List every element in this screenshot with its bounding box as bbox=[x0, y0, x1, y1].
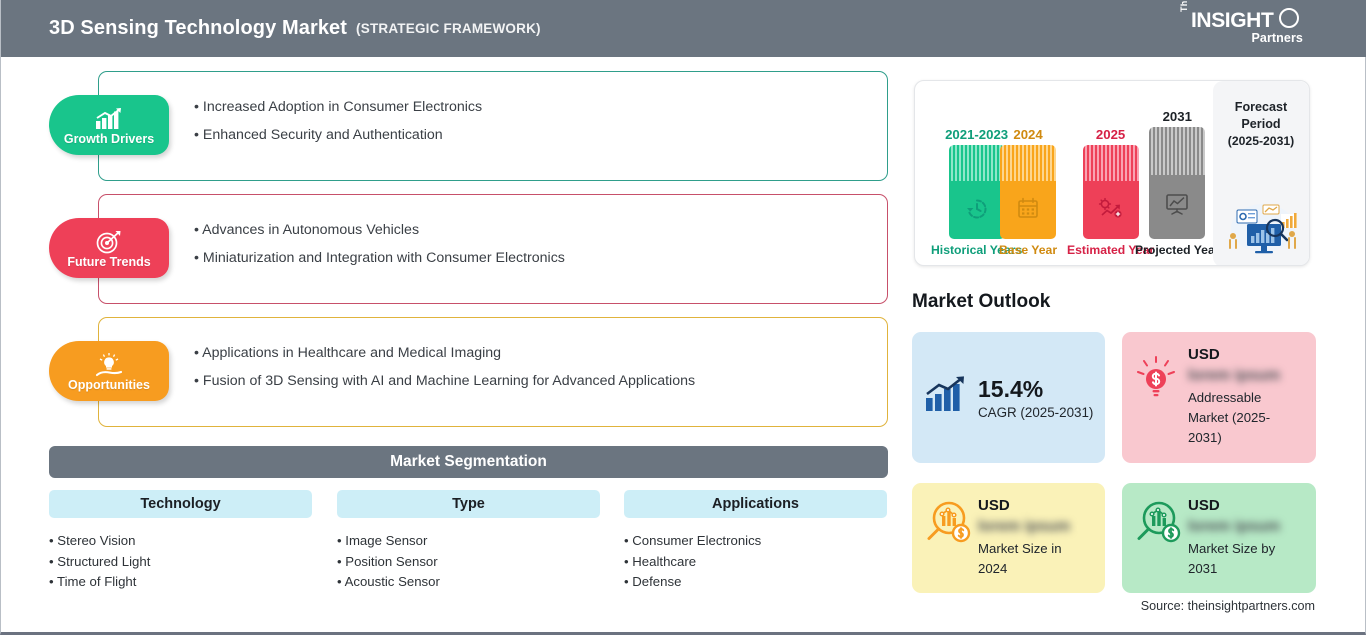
dashboard-analysis-illustration bbox=[1219, 196, 1303, 259]
bullets-growth-drivers: Increased Adoption in Consumer Electroni… bbox=[194, 93, 482, 149]
card-value-blurred: lorem ipsum bbox=[1188, 367, 1300, 385]
card-market-size-2031: USD lorem ipsum Market Size by 2031 bbox=[1122, 483, 1316, 593]
market-outlook-title: Market Outlook bbox=[912, 291, 1050, 313]
presentation-chart-icon bbox=[1149, 193, 1205, 215]
magnifier-ring-icon bbox=[1279, 8, 1299, 28]
bullet-item: Fusion of 3D Sensing with AI and Machine… bbox=[194, 367, 695, 395]
bar-chart-growth-icon bbox=[94, 105, 124, 131]
bullet-item: Increased Adoption in Consumer Electroni… bbox=[194, 93, 482, 121]
forecast-period-panel: Forecast Period (2025-2031) bbox=[1213, 81, 1309, 266]
bullet-item: Applications in Healthcare and Medical I… bbox=[194, 339, 695, 367]
bar-chart-arrow-icon bbox=[924, 376, 968, 419]
lightbulb-dollar-icon bbox=[1132, 332, 1180, 407]
list-item: Acoustic Sensor bbox=[337, 572, 600, 593]
bullet-item: Miniaturization and Integration with Con… bbox=[194, 244, 565, 272]
segmentation-header: Type bbox=[337, 490, 600, 518]
list-item: Stereo Vision bbox=[49, 531, 312, 552]
timeline-bar bbox=[1149, 127, 1205, 239]
forecast-timeline-panel: 2021-2023 Historical Years 2024 bbox=[914, 80, 1310, 266]
infographic-page: 3D Sensing Technology Market (STRATEGIC … bbox=[0, 0, 1366, 635]
forecast-line-1: Forecast bbox=[1213, 99, 1309, 116]
logo-insight-text: INSIGHT bbox=[1191, 9, 1273, 33]
logo-partners-text: Partners bbox=[1251, 31, 1303, 45]
bar-stripes bbox=[949, 145, 1005, 181]
card-currency: USD bbox=[1188, 497, 1300, 514]
segmentation-column-type: Type Image Sensor Position Sensor Acoust… bbox=[337, 490, 600, 593]
card-addressable-market: USD lorem ipsum Addressable Market (2025… bbox=[1122, 332, 1316, 463]
timeline-column-base: 2024 Base Ye bbox=[999, 127, 1057, 257]
timeline-caption: Base Year bbox=[999, 243, 1057, 257]
segmentation-column-technology: Technology Stereo Vision Structured Ligh… bbox=[49, 490, 312, 593]
cagr-value: 15.4% bbox=[978, 376, 1093, 403]
source-attribution: Source: theinsightpartners.com bbox=[1141, 599, 1315, 613]
bar-stripes bbox=[1000, 145, 1056, 181]
forecast-period-label: Forecast Period (2025-2031) bbox=[1213, 99, 1309, 150]
list-item: Healthcare bbox=[624, 552, 887, 573]
bullet-item: Enhanced Security and Authentication bbox=[194, 121, 482, 149]
page-subtitle: (STRATEGIC FRAMEWORK) bbox=[356, 21, 541, 36]
page-header: 3D Sensing Technology Market (STRATEGIC … bbox=[1, 0, 1366, 57]
forecast-years: (2025-2031) bbox=[1213, 133, 1309, 150]
list-item: Consumer Electronics bbox=[624, 531, 887, 552]
brand-logo: The INSIGHT Partners bbox=[1179, 8, 1309, 50]
bar-stripes bbox=[1083, 145, 1139, 181]
forecast-line-2: Period bbox=[1213, 116, 1309, 133]
list-item: Image Sensor bbox=[337, 531, 600, 552]
card-label: Addressable Market (2025-2031) bbox=[1188, 388, 1300, 448]
bullets-opportunities: Applications in Healthcare and Medical I… bbox=[194, 339, 695, 395]
calendar-icon bbox=[1000, 197, 1056, 219]
segmentation-items: Consumer Electronics Healthcare Defense bbox=[624, 531, 887, 593]
timeline-year: 2031 bbox=[1135, 109, 1219, 124]
card-cagr: 15.4% CAGR (2025-2031) bbox=[912, 332, 1105, 463]
logo-the-text: The bbox=[1179, 0, 1189, 12]
timeline-caption: Projected Year bbox=[1135, 243, 1219, 257]
magnifier-chart-dollar-icon bbox=[1132, 483, 1184, 554]
badge-growth-drivers[interactable]: Growth Drivers bbox=[49, 95, 169, 155]
badge-future-trends[interactable]: Future Trends bbox=[49, 218, 169, 278]
clock-history-icon bbox=[949, 197, 1005, 221]
card-market-size-2024: USD lorem ipsum Market Size in 2024 bbox=[912, 483, 1105, 593]
list-item: Position Sensor bbox=[337, 552, 600, 573]
timeline-bar bbox=[949, 145, 1005, 239]
timeline-bar bbox=[1000, 145, 1056, 239]
badge-label-growth-drivers: Growth Drivers bbox=[64, 132, 154, 146]
card-label: Market Size by 2031 bbox=[1188, 539, 1300, 579]
timeline-year: 2024 bbox=[999, 127, 1057, 142]
badge-opportunities[interactable]: Opportunities bbox=[49, 341, 169, 401]
list-item: Time of Flight bbox=[49, 572, 312, 593]
badge-label-opportunities: Opportunities bbox=[68, 378, 150, 392]
cagr-label: CAGR (2025-2031) bbox=[978, 405, 1093, 420]
card-value-blurred: lorem ipsum bbox=[978, 518, 1090, 536]
card-value-blurred: lorem ipsum bbox=[1188, 518, 1300, 536]
target-dart-icon bbox=[95, 228, 123, 254]
segmentation-items: Stereo Vision Structured Light Time of F… bbox=[49, 531, 312, 593]
segmentation-items: Image Sensor Position Sensor Acoustic Se… bbox=[337, 531, 600, 593]
timeline-bar bbox=[1083, 145, 1139, 239]
list-item: Structured Light bbox=[49, 552, 312, 573]
bullets-future-trends: Advances in Autonomous Vehicles Miniatur… bbox=[194, 216, 565, 272]
bullet-item: Advances in Autonomous Vehicles bbox=[194, 216, 565, 244]
badge-label-future-trends: Future Trends bbox=[67, 255, 150, 269]
lightbulb-hand-icon bbox=[94, 351, 124, 377]
card-currency: USD bbox=[978, 497, 1090, 514]
card-currency: USD bbox=[1188, 346, 1300, 363]
market-segmentation-title: Market Segmentation bbox=[49, 446, 888, 478]
segmentation-header: Technology bbox=[49, 490, 312, 518]
list-item: Defense bbox=[624, 572, 887, 593]
card-label: Market Size in 2024 bbox=[978, 539, 1090, 579]
page-title: 3D Sensing Technology Market bbox=[49, 17, 347, 40]
segmentation-column-applications: Applications Consumer Electronics Health… bbox=[624, 490, 887, 593]
magnifier-chart-dollar-icon bbox=[922, 483, 974, 554]
gear-chart-icon bbox=[1083, 197, 1139, 219]
segmentation-header: Applications bbox=[624, 490, 887, 518]
timeline-column-projected: 2031 Projected Year bbox=[1135, 109, 1219, 257]
bar-stripes bbox=[1149, 127, 1205, 175]
